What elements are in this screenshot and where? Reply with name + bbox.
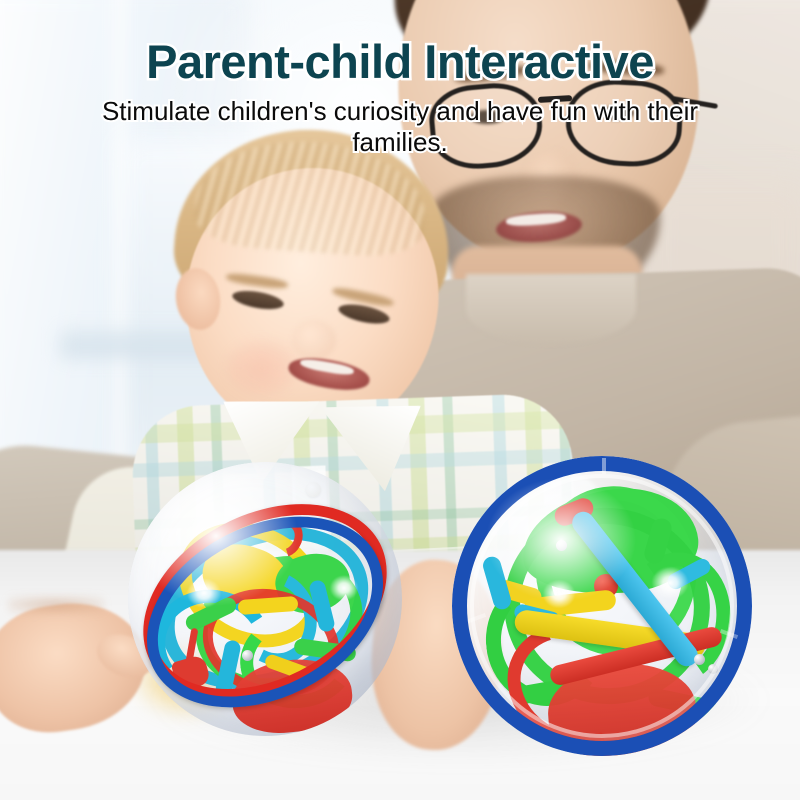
ball-specular-spark bbox=[180, 572, 228, 614]
father-shirt-collar bbox=[466, 274, 636, 344]
child-cheek bbox=[226, 340, 298, 396]
hand-knuckles bbox=[8, 596, 104, 614]
promo-banner: Parent-child Interactive Stimulate child… bbox=[0, 0, 800, 800]
banner-text-block: Parent-child Interactive Stimulate child… bbox=[0, 0, 800, 157]
maze-ball-left[interactable] bbox=[128, 462, 402, 736]
ball-rim-seam bbox=[602, 458, 606, 474]
banner-headline: Parent-child Interactive bbox=[0, 38, 800, 85]
child-nose bbox=[292, 320, 336, 360]
ball-specular-spark bbox=[644, 560, 696, 606]
banner-subheadline: Stimulate children's curiosity and have … bbox=[0, 96, 800, 157]
maze-ball-right[interactable] bbox=[452, 456, 752, 756]
ball-specular-spark bbox=[324, 570, 364, 606]
ball-specular-spark bbox=[536, 574, 582, 614]
